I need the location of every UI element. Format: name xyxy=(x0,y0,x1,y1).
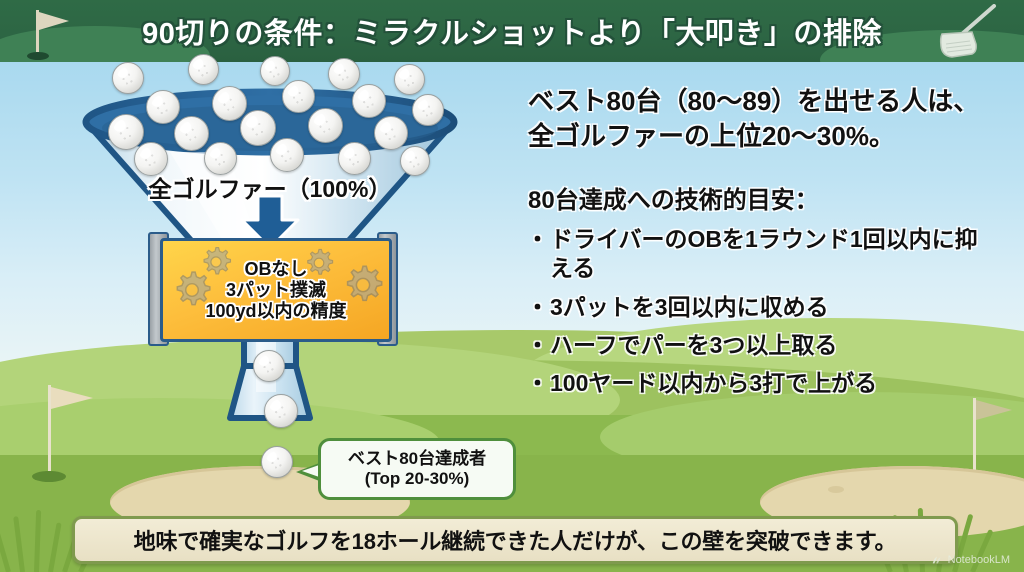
filter-gate: OBなし 3パット撲滅 100yd以内の精度 xyxy=(148,232,398,342)
list-item: ハーフでパーを3つ以上取る xyxy=(528,331,998,360)
criteria-line-1: OBなし xyxy=(245,259,308,279)
watermark-label: NotebookLM xyxy=(948,554,1010,566)
lead-line-1: ベスト80台（80〜89）を出せる人は、 xyxy=(528,84,998,119)
golf-ball-icon xyxy=(308,108,343,143)
conclusion-text: 地味で確実なゴルフを18ホール継続できた人だけが、この壁を突破できます。 xyxy=(134,524,897,556)
golf-ball-icon xyxy=(253,350,285,382)
page-title: 90切りの条件：ミラクルショットより「大叩き」の排除 xyxy=(0,0,1024,62)
golf-ball-icon xyxy=(270,138,304,172)
golf-ball-icon xyxy=(146,90,180,124)
list-item: ドライバーのOBを1ラウンド1回以内に抑える xyxy=(528,225,998,284)
conclusion-banner: 地味で確実なゴルフを18ホール継続できた人だけが、この壁を突破できます。 xyxy=(72,516,958,564)
golf-ball-icon xyxy=(412,94,444,126)
criteria-line-3: 100yd以内の精度 xyxy=(205,301,346,321)
slide-canvas: 90切りの条件：ミラクルショットより「大叩き」の排除 xyxy=(0,0,1024,572)
golf-ball-icon xyxy=(282,80,315,113)
header-bar: 90切りの条件：ミラクルショットより「大叩き」の排除 xyxy=(0,0,1024,62)
criteria-line-2: 3パット撲滅 xyxy=(226,280,326,300)
callout-line-1: ベスト80台達成者 xyxy=(348,449,486,469)
callout-line-2: (Top 20-30%) xyxy=(365,469,470,489)
golf-ball-icon xyxy=(374,116,408,150)
golf-ball-icon xyxy=(240,110,276,146)
criteria-panel: OBなし 3パット撲滅 100yd以内の精度 xyxy=(160,238,392,342)
criteria-list: OBなし 3パット撲滅 100yd以内の精度 xyxy=(163,241,389,339)
golf-ball-icon xyxy=(260,56,290,86)
criteria-bullet-list: ドライバーのOBを1ラウンド1回以内に抑える 3パットを3回以内に収める ハーフ… xyxy=(528,225,998,399)
sub-heading: 80台達成への技術的目安： xyxy=(528,180,998,215)
achiever-callout: ベスト80台達成者 (Top 20-30%) xyxy=(318,438,516,500)
notebooklm-icon xyxy=(931,554,943,566)
list-item: 3パットを3回以内に収める xyxy=(528,293,998,322)
watermark: NotebookLM xyxy=(931,554,1010,566)
right-content-panel: ベスト80台（80〜89）を出せる人は、 全ゴルファーの上位20〜30%。 80… xyxy=(528,84,998,408)
golf-ball-icon xyxy=(261,446,293,478)
lead-line-2: 全ゴルファーの上位20〜30%。 xyxy=(528,119,998,154)
golf-ball-icon xyxy=(108,114,144,150)
golf-ball-icon xyxy=(112,62,144,94)
bunker-spot xyxy=(828,486,844,493)
golf-ball-icon xyxy=(212,86,247,121)
hole-cup-left xyxy=(32,471,66,482)
golf-ball-icon xyxy=(188,54,219,85)
list-item: 100ヤード以内から3打で上がる xyxy=(528,369,998,398)
golf-ball-icon xyxy=(264,394,298,428)
golf-ball-icon xyxy=(352,84,386,118)
golf-ball-icon xyxy=(174,116,209,151)
golf-ball-icon xyxy=(394,64,425,95)
golf-ball-icon xyxy=(328,58,360,90)
